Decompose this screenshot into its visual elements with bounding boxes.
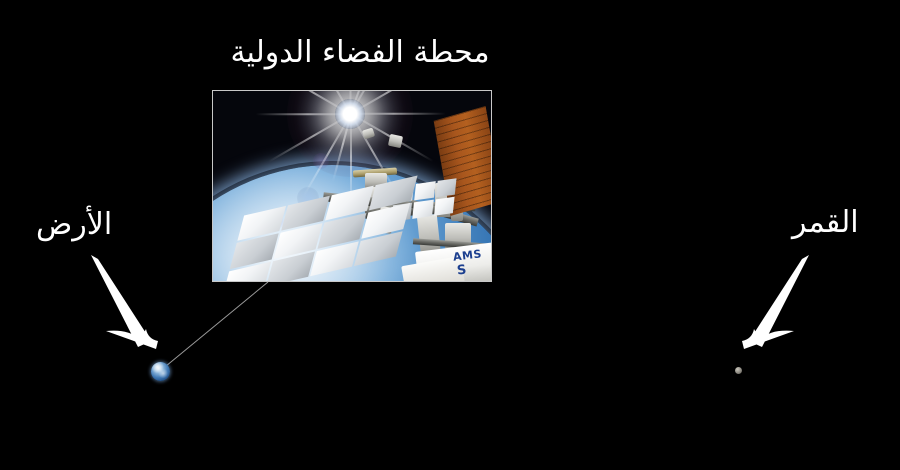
floating-object (388, 134, 403, 148)
callout-label-earth: الأرض (36, 206, 112, 244)
arrow-earth (60, 245, 170, 355)
solar-panel-cell (436, 178, 457, 197)
solar-panel-cell (434, 197, 455, 216)
ams-label-secondary: S (456, 262, 468, 278)
solar-panel-cell (415, 181, 436, 200)
leader-line-stroke (160, 282, 268, 371)
solar-panel-cell (413, 200, 434, 219)
arrow-moon-shape (742, 255, 809, 349)
sun-ray-icon (351, 113, 446, 115)
sun-icon (335, 99, 365, 129)
callout-label-moon: القمر (792, 204, 859, 242)
arrow-moon (730, 245, 840, 355)
moon-dot[interactable] (735, 367, 742, 374)
iss-photo-frame[interactable]: AMS S (212, 90, 492, 282)
slide-canvas: محطة الفضاء الدولية (0, 0, 900, 470)
lens-flare-icon (313, 153, 329, 169)
earth-sphere[interactable] (151, 362, 170, 381)
page-title: محطة الفضاء الدولية (200, 33, 520, 73)
iss-photo-image: AMS S (213, 91, 491, 281)
arrow-earth-shape (91, 255, 158, 349)
